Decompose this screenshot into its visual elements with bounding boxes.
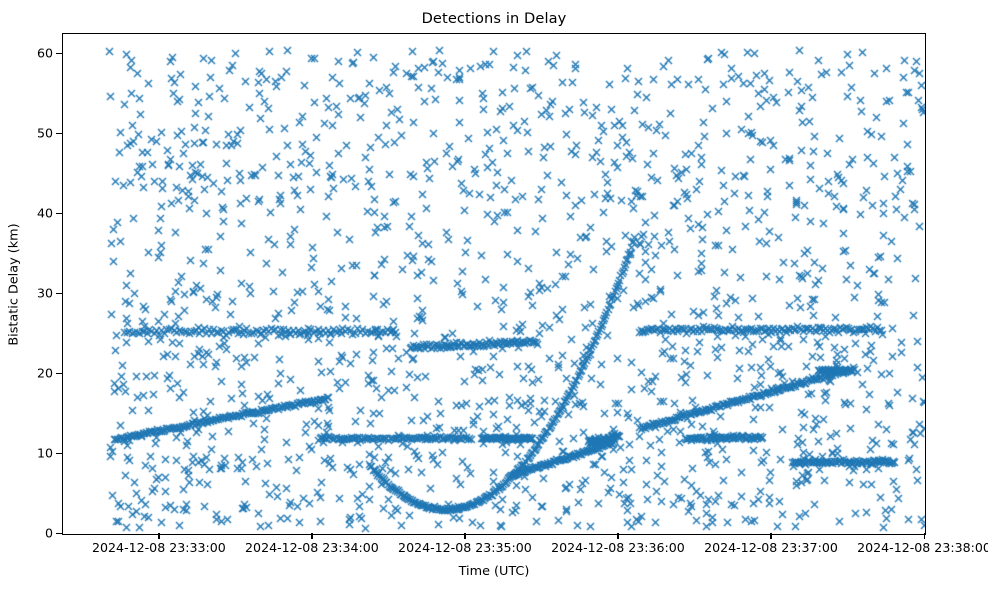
x-axis-label: Time (UTC) xyxy=(0,564,988,579)
y-tick-label: 20 xyxy=(37,366,53,381)
chart-title: Detections in Delay xyxy=(0,10,988,27)
y-tick-label: 50 xyxy=(37,126,53,141)
y-tick-mark xyxy=(56,213,62,214)
scatter-plot-canvas xyxy=(63,34,925,534)
matplotlib-figure: Detections in Delay 0102030405060 2024-1… xyxy=(0,0,988,590)
y-axis-label: Bistatic Delay (km) xyxy=(7,35,22,535)
x-tick-mark xyxy=(770,533,771,539)
x-tick-mark xyxy=(617,533,618,539)
x-tick-mark xyxy=(311,533,312,539)
x-tick-label: 2024-12-08 23:35:00 xyxy=(398,540,532,555)
y-tick-label: 60 xyxy=(37,46,53,61)
y-tick-mark xyxy=(56,533,62,534)
y-tick-mark xyxy=(56,373,62,374)
y-tick-mark xyxy=(56,293,62,294)
x-tick-label: 2024-12-08 23:36:00 xyxy=(551,540,685,555)
y-tick-label: 10 xyxy=(37,446,53,461)
plot-axes xyxy=(62,33,926,535)
y-tick-label: 30 xyxy=(37,286,53,301)
y-tick-mark xyxy=(56,453,62,454)
x-tick-label: 2024-12-08 23:34:00 xyxy=(245,540,379,555)
x-tick-mark xyxy=(924,533,925,539)
y-tick-mark xyxy=(56,133,62,134)
x-tick-mark xyxy=(464,533,465,539)
y-tick-label: 0 xyxy=(45,526,53,541)
x-tick-label: 2024-12-08 23:37:00 xyxy=(704,540,838,555)
y-tick-mark xyxy=(56,53,62,54)
x-tick-label: 2024-12-08 23:33:00 xyxy=(92,540,226,555)
y-tick-label: 40 xyxy=(37,206,53,221)
x-tick-label: 2024-12-08 23:38:00 xyxy=(857,540,988,555)
x-tick-mark xyxy=(158,533,159,539)
